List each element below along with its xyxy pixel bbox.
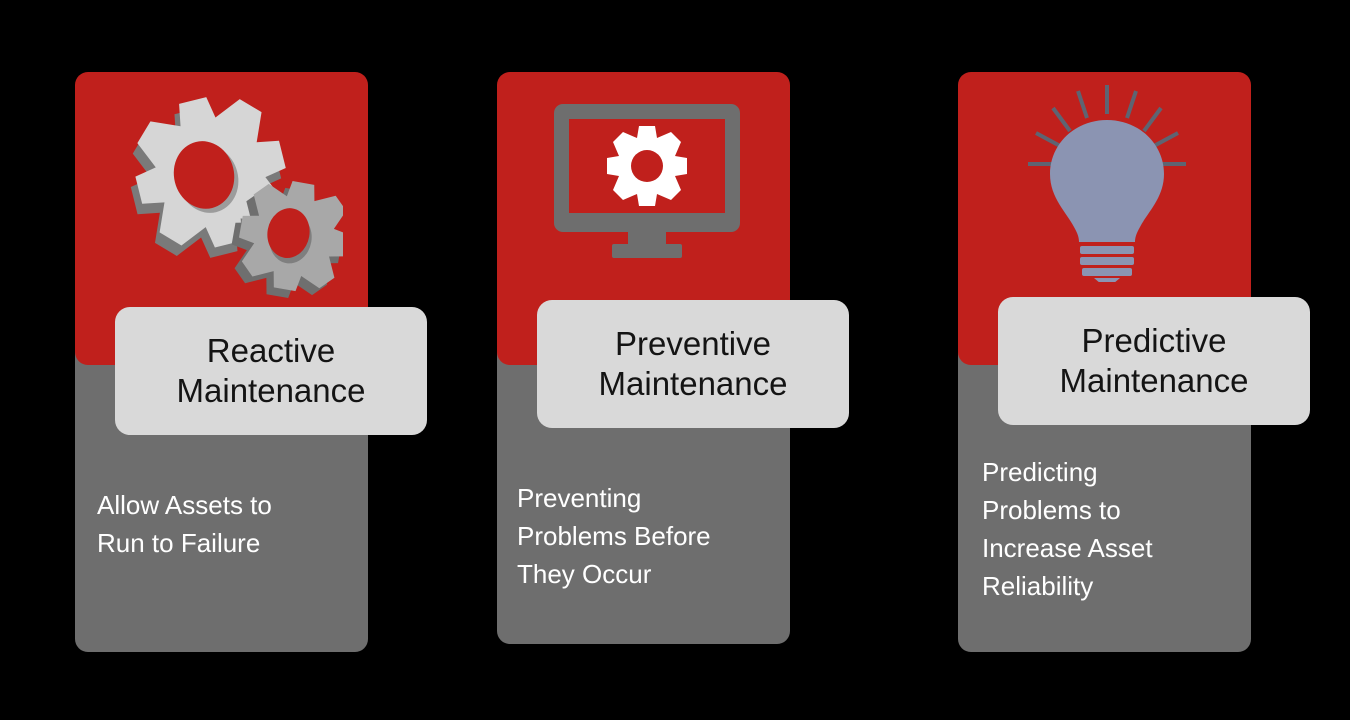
card-title-predictive: Predictive Maintenance bbox=[1060, 321, 1249, 402]
infographic-canvas: Reactive Maintenance Allow Assets to Run… bbox=[0, 0, 1350, 720]
card-title-preventive: Preventive Maintenance bbox=[599, 324, 788, 405]
lightbulb-icon bbox=[1016, 82, 1198, 282]
card-title-chip-reactive[interactable]: Reactive Maintenance bbox=[115, 307, 427, 435]
card-description-reactive: Allow Assets to Run to Failure bbox=[97, 487, 357, 563]
card-title-chip-preventive[interactable]: Preventive Maintenance bbox=[537, 300, 849, 428]
monitor-gear-icon bbox=[552, 104, 742, 259]
card-description-preventive: Preventing Problems Before They Occur bbox=[517, 480, 787, 594]
card-title-chip-predictive[interactable]: Predictive Maintenance bbox=[998, 297, 1310, 425]
card-title-reactive: Reactive Maintenance bbox=[177, 331, 366, 412]
card-description-predictive: Predicting Problems to Increase Asset Re… bbox=[982, 454, 1252, 606]
gears-icon bbox=[113, 90, 343, 300]
